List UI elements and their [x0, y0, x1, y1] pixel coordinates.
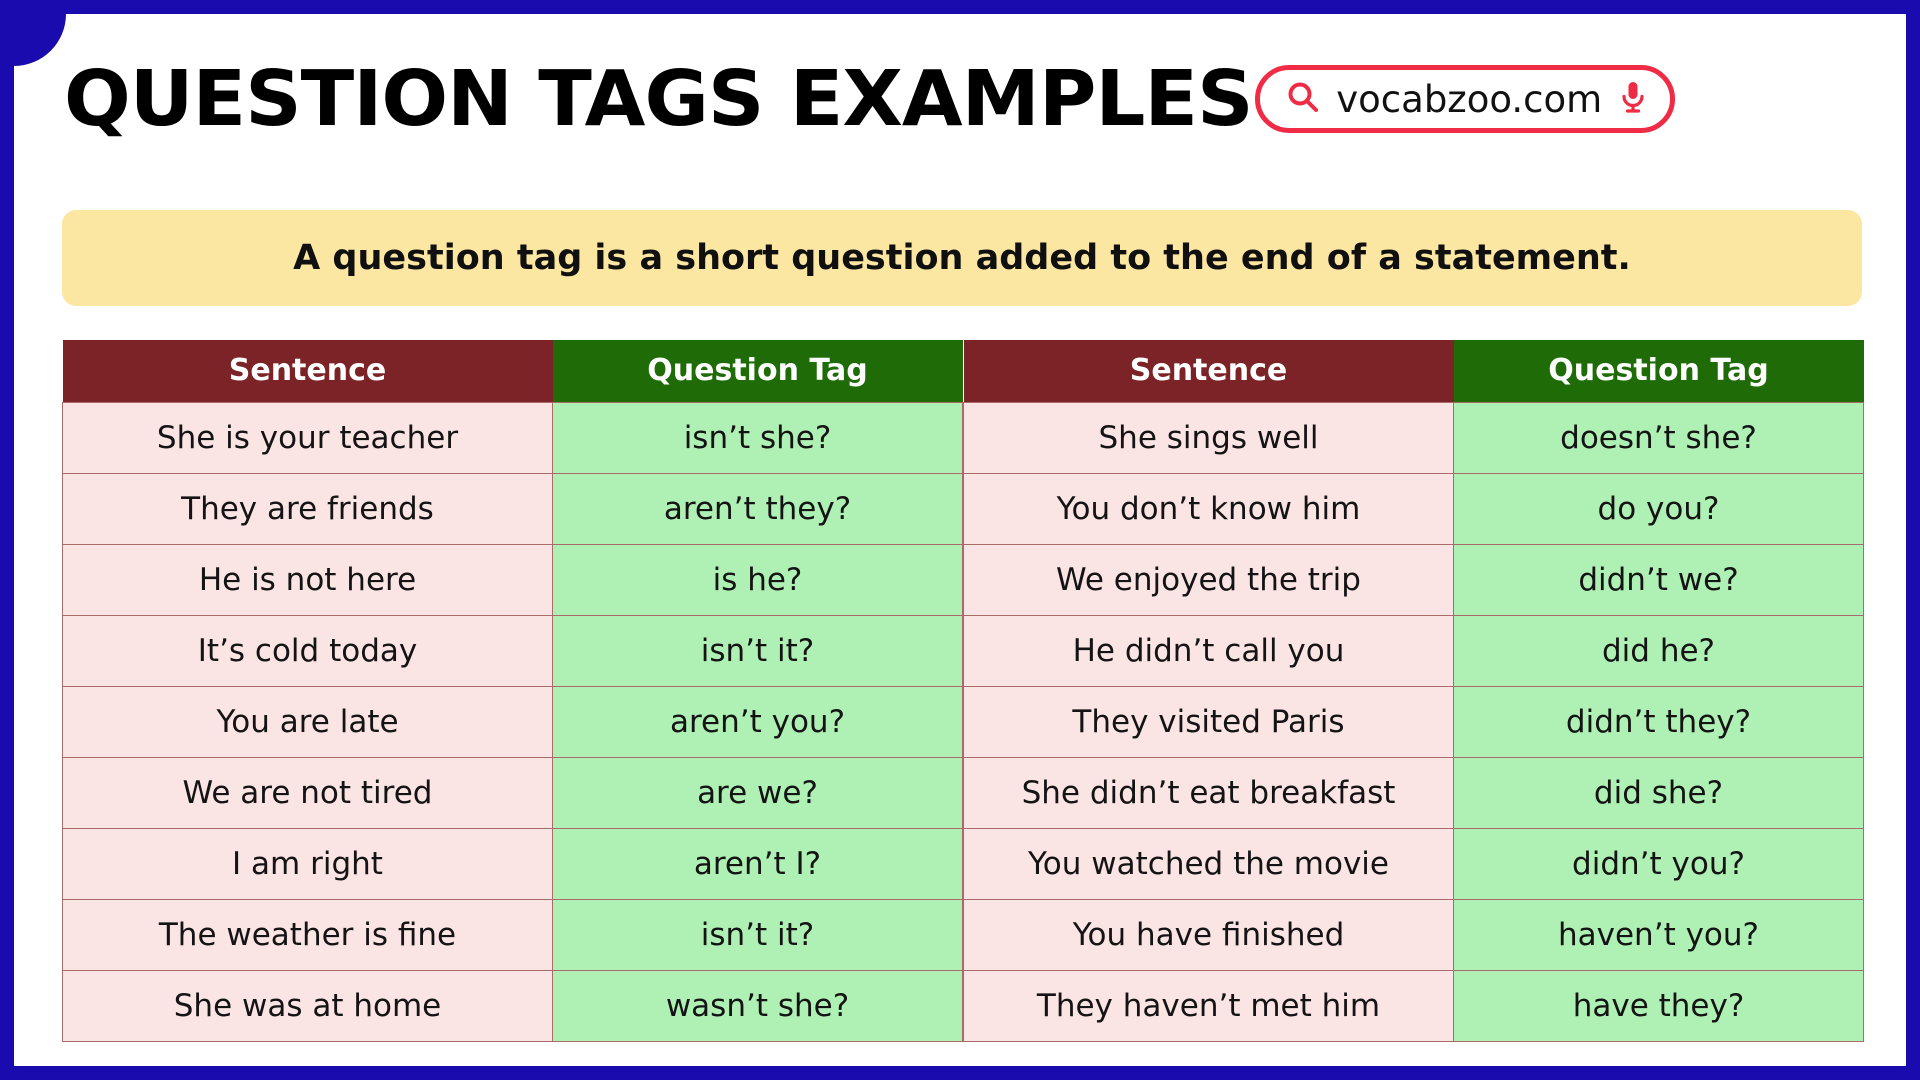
cell-question-tag: is he?	[553, 544, 963, 615]
cell-sentence: You don’t know him	[964, 473, 1454, 544]
definition-text: A question tag is a short question added…	[293, 238, 1631, 278]
cell-sentence: They are friends	[63, 473, 553, 544]
table-row: They visited Parisdidn’t they?	[964, 686, 1864, 757]
table-row: She didn’t eat breakfastdid she?	[964, 757, 1864, 828]
table-row: You are latearen’t you?	[63, 686, 963, 757]
poster-canvas: QUESTION TAGS EXAMPLES vocabzoo.com A qu…	[14, 14, 1906, 1066]
cell-sentence: She is your teacher	[63, 402, 553, 473]
cell-question-tag: have they?	[1454, 970, 1864, 1041]
table-row: She sings welldoesn’t she?	[964, 402, 1864, 473]
cell-question-tag: aren’t they?	[553, 473, 963, 544]
table-row: We enjoyed the tripdidn’t we?	[964, 544, 1864, 615]
cell-question-tag: aren’t I?	[553, 828, 963, 899]
cell-sentence: He didn’t call you	[964, 615, 1454, 686]
cell-question-tag: doesn’t she?	[1454, 402, 1864, 473]
table-row: He is not hereis he?	[63, 544, 963, 615]
cell-sentence: She didn’t eat breakfast	[964, 757, 1454, 828]
cell-question-tag: isn’t it?	[553, 899, 963, 970]
header: QUESTION TAGS EXAMPLES vocabzoo.com	[14, 44, 1906, 154]
table-row: We are not tiredare we?	[63, 757, 963, 828]
table-row: You don’t know himdo you?	[964, 473, 1864, 544]
table-row: The weather is fineisn’t it?	[63, 899, 963, 970]
cell-question-tag: didn’t we?	[1454, 544, 1864, 615]
cell-sentence: I am right	[63, 828, 553, 899]
cell-sentence: We are not tired	[63, 757, 553, 828]
cell-question-tag: didn’t you?	[1454, 828, 1864, 899]
cell-sentence: They visited Paris	[964, 686, 1454, 757]
definition-banner: A question tag is a short question added…	[62, 210, 1862, 306]
cell-sentence: You watched the movie	[964, 828, 1454, 899]
cell-question-tag: are we?	[553, 757, 963, 828]
examples-tables: Sentence Question Tag She is your teache…	[62, 340, 1862, 1042]
cell-question-tag: aren’t you?	[553, 686, 963, 757]
cell-sentence: You have finished	[964, 899, 1454, 970]
table-row: You watched the moviedidn’t you?	[964, 828, 1864, 899]
table-row: They are friendsaren’t they?	[63, 473, 963, 544]
table-row: It’s cold todayisn’t it?	[63, 615, 963, 686]
cell-sentence: They haven’t met him	[964, 970, 1454, 1041]
left-table: Sentence Question Tag She is your teache…	[62, 340, 963, 1042]
search-icon	[1286, 80, 1320, 119]
cell-question-tag: haven’t you?	[1454, 899, 1864, 970]
right-table: Sentence Question Tag She sings welldoes…	[963, 340, 1864, 1042]
cell-sentence: The weather is fine	[63, 899, 553, 970]
table-row: He didn’t call youdid he?	[964, 615, 1864, 686]
cell-question-tag: did he?	[1454, 615, 1864, 686]
cell-sentence: We enjoyed the trip	[964, 544, 1454, 615]
search-bar[interactable]: vocabzoo.com	[1255, 65, 1675, 133]
cell-question-tag: isn’t she?	[553, 402, 963, 473]
column-header-sentence: Sentence	[964, 340, 1454, 402]
table-header-row: Sentence Question Tag	[964, 340, 1864, 402]
cell-sentence: She sings well	[964, 402, 1454, 473]
cell-sentence: You are late	[63, 686, 553, 757]
cell-question-tag: do you?	[1454, 473, 1864, 544]
cell-sentence: It’s cold today	[63, 615, 553, 686]
cell-question-tag: isn’t it?	[553, 615, 963, 686]
table-row: She is your teacherisn’t she?	[63, 402, 963, 473]
cell-question-tag: did she?	[1454, 757, 1864, 828]
column-header-question-tag: Question Tag	[553, 340, 963, 402]
cell-sentence: He is not here	[63, 544, 553, 615]
page-title: QUESTION TAGS EXAMPLES	[64, 55, 1253, 144]
table-row: You have finishedhaven’t you?	[964, 899, 1864, 970]
microphone-icon[interactable]	[1618, 79, 1648, 120]
table-row: They haven’t met himhave they?	[964, 970, 1864, 1041]
cell-question-tag: didn’t they?	[1454, 686, 1864, 757]
site-url-text: vocabzoo.com	[1336, 78, 1602, 121]
table-row: She was at homewasn’t she?	[63, 970, 963, 1041]
column-header-sentence: Sentence	[63, 340, 553, 402]
column-header-question-tag: Question Tag	[1454, 340, 1864, 402]
cell-sentence: She was at home	[63, 970, 553, 1041]
cell-question-tag: wasn’t she?	[553, 970, 963, 1041]
table-header-row: Sentence Question Tag	[63, 340, 963, 402]
table-row: I am rightaren’t I?	[63, 828, 963, 899]
